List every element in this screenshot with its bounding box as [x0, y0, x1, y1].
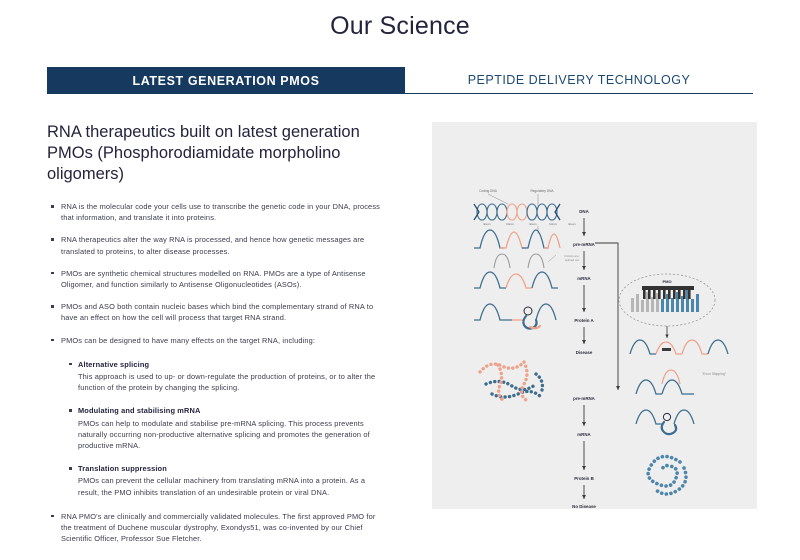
tab-bar: LATEST GENERATION PMOS PEPTIDE DELIVERY …: [47, 67, 753, 94]
pre-mrna-exon-intron-row: [474, 226, 560, 248]
section-heading: RNA therapeutics built on latest generat…: [47, 122, 387, 185]
central-pathway-upper: DNA pre-mRNA mRNA Protein A Disease: [573, 209, 596, 355]
excised-introns-group: [494, 254, 556, 268]
label-regulatory-dna: Regulatory DNA: [530, 189, 554, 193]
tab-latest-generation-pmos[interactable]: LATEST GENERATION PMOS: [47, 67, 405, 94]
main-content: RNA therapeutics built on latest generat…: [47, 122, 387, 555]
label-pre-mrna-top: pre-mRNA: [573, 242, 596, 247]
list-item: RNA therapeutics alter the way RNA is pr…: [47, 234, 387, 256]
sub-bullet-title: Translation suppression: [78, 463, 387, 474]
sub-bullet-title: Modulating and stabilising mRNA: [78, 405, 387, 416]
sub-bullet-body: This approach is used to up- or down-reg…: [78, 372, 375, 392]
pmo-oligomer-group: PMO: [619, 274, 715, 338]
label-dna: DNA: [579, 209, 589, 214]
primary-bullet-list: RNA is the molecular code your cells use…: [47, 201, 387, 346]
sub-bullet-body: PMOs can prevent the cellular machinery …: [78, 476, 365, 496]
label-pre-mrna-bottom: pre-mRNA: [573, 396, 596, 401]
label-exon-3: Exon: [568, 222, 575, 226]
our-science-page: Our Science LATEST GENERATION PMOS PEPTI…: [0, 0, 800, 560]
list-item: PMOs can be designed to have many effect…: [47, 335, 387, 346]
label-introns-spliced-out: Introns are spliced out: [564, 254, 579, 262]
label-introns-line-2: spliced out: [565, 258, 580, 262]
corrected-translation-row: [636, 410, 694, 434]
protein-a-cluster: [480, 362, 542, 401]
science-diagram-panel: Coding DNA Regulatory DNA Exon Intron Ex…: [432, 122, 757, 509]
central-pathway-lower: pre-mRNA mRNA Protein B No Disease: [572, 396, 596, 509]
dna-helix-group: [474, 194, 560, 220]
label-coding-dna: Coding DNA: [479, 189, 498, 193]
label-exon-2: Exon: [529, 222, 536, 226]
list-item: Modulating and stabilising mRNA PMOs can…: [65, 405, 387, 451]
label-no-disease: No Disease: [572, 504, 596, 509]
label-mrna-top: mRNA: [577, 276, 591, 281]
label-mrna-bottom: mRNA: [577, 432, 591, 437]
helix-strand: [474, 204, 560, 220]
pmo-bound-pre-mrna: [630, 340, 728, 354]
nested-bullet-list: Alternative splicing This approach is us…: [47, 359, 387, 498]
list-item: Alternative splicing This approach is us…: [65, 359, 387, 394]
list-item: RNA PMO's are clinically and commerciall…: [47, 511, 387, 545]
sub-bullet-title: Alternative splicing: [78, 359, 387, 370]
label-protein-b: Protein B: [574, 476, 594, 481]
label-protein-a: Protein A: [574, 318, 594, 323]
corrected-mrna-row: [636, 380, 694, 394]
exon-skipping-group: "Exon Skipping": [662, 370, 727, 384]
label-exon-skipping: "Exon Skipping": [702, 372, 727, 376]
leader-line: [488, 194, 508, 204]
label-intron-1: Intron: [506, 222, 514, 226]
list-item: PMOs and ASO both contain nucleic bases …: [47, 301, 387, 323]
label-intron-2: Intron: [549, 222, 557, 226]
rna-pathway-diagram: Coding DNA Regulatory DNA Exon Intron Ex…: [432, 122, 757, 509]
sub-bullet-body: PMOs can help to modulate and stabilise …: [78, 419, 370, 450]
pathway-branch-connector: [595, 243, 618, 390]
page-title: Our Science: [0, 12, 800, 41]
label-exon-1: Exon: [483, 222, 490, 226]
protein-b-spiral: [648, 456, 686, 494]
list-item: PMOs are synthetic chemical structures m…: [47, 268, 387, 290]
translation-row: [474, 304, 556, 329]
list-item: RNA is the molecular code your cells use…: [47, 201, 387, 223]
tab-peptide-delivery-technology[interactable]: PEPTIDE DELIVERY TECHNOLOGY: [405, 67, 753, 94]
label-disease: Disease: [576, 350, 593, 355]
label-pmo: PMO: [662, 279, 671, 284]
list-item: Translation suppression PMOs can prevent…: [65, 463, 387, 498]
pmo-backbone: [642, 286, 694, 290]
spliced-mrna-row: [474, 272, 558, 288]
closing-bullet-list: RNA PMO's are clinically and commerciall…: [47, 511, 387, 545]
